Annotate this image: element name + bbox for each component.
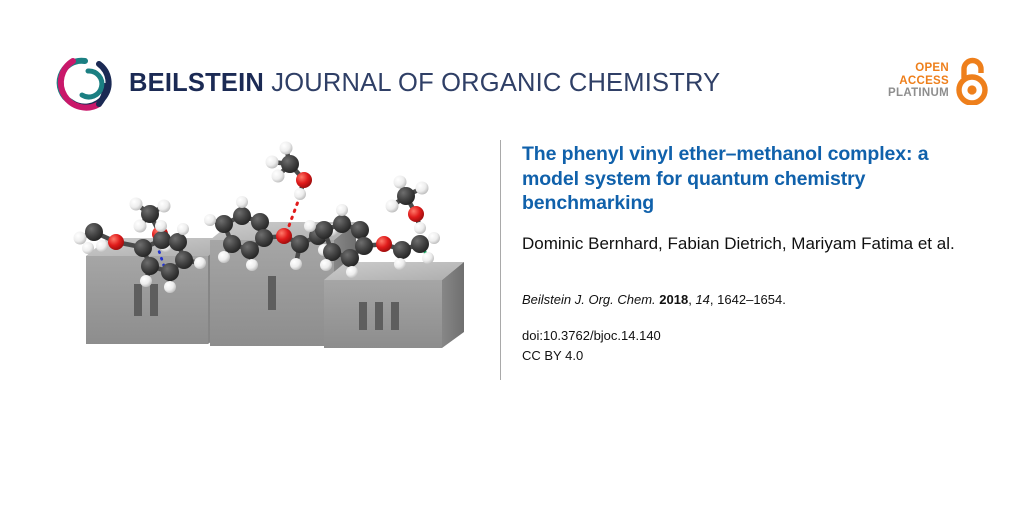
citation-year: 2018 [659, 292, 688, 307]
oa-line-access: ACCESS [888, 75, 949, 88]
article-license[interactable]: CC BY 4.0 [522, 346, 977, 366]
journal-title-wordmark: BEILSTEIN JOURNAL OF ORGANIC CHEMISTRY [129, 69, 720, 97]
citation-terminator: . [782, 292, 786, 307]
podium-numeral-III [359, 302, 399, 330]
article-citation: Beilstein J. Org. Chem. 2018, 14, 1642–1… [522, 291, 977, 309]
article-authors: Dominic Bernhard, Fabian Dietrich, Mariy… [522, 233, 977, 256]
open-access-labels: OPEN ACCESS PLATINUM [888, 62, 949, 101]
open-lock-icon [955, 57, 989, 105]
citation-pages: 1642–1654 [717, 292, 782, 307]
doi-and-license: doi:10.3762/bjoc.14.140 CC BY 4.0 [522, 326, 977, 365]
citation-journal: Beilstein J. Org. Chem. [522, 292, 656, 307]
oa-line-platinum: PLATINUM [888, 87, 949, 100]
article-card: BEILSTEIN JOURNAL OF ORGANIC CHEMISTRY O… [0, 0, 1024, 512]
brand-light: JOURNAL OF ORGANIC CHEMISTRY [271, 69, 720, 97]
beilstein-spiral-logo-icon [55, 52, 115, 114]
column-divider [500, 140, 501, 380]
graphical-abstract [28, 132, 488, 380]
citation-sep-2: , [710, 292, 714, 307]
article-title[interactable]: The phenyl vinyl ether–methanol complex:… [522, 142, 977, 216]
citation-volume: 14 [695, 292, 709, 307]
open-access-badge[interactable]: OPEN ACCESS PLATINUM [888, 57, 989, 105]
oa-line-open: OPEN [888, 62, 949, 75]
article-metadata: The phenyl vinyl ether–methanol complex:… [522, 142, 977, 365]
article-doi[interactable]: doi:10.3762/bjoc.14.140 [522, 326, 977, 346]
journal-masthead[interactable]: BEILSTEIN JOURNAL OF ORGANIC CHEMISTRY [55, 52, 720, 114]
brand-bold: BEILSTEIN [129, 69, 264, 97]
podium-left [86, 238, 230, 344]
podium-numeral-I [268, 276, 276, 310]
podium-right [324, 262, 464, 348]
